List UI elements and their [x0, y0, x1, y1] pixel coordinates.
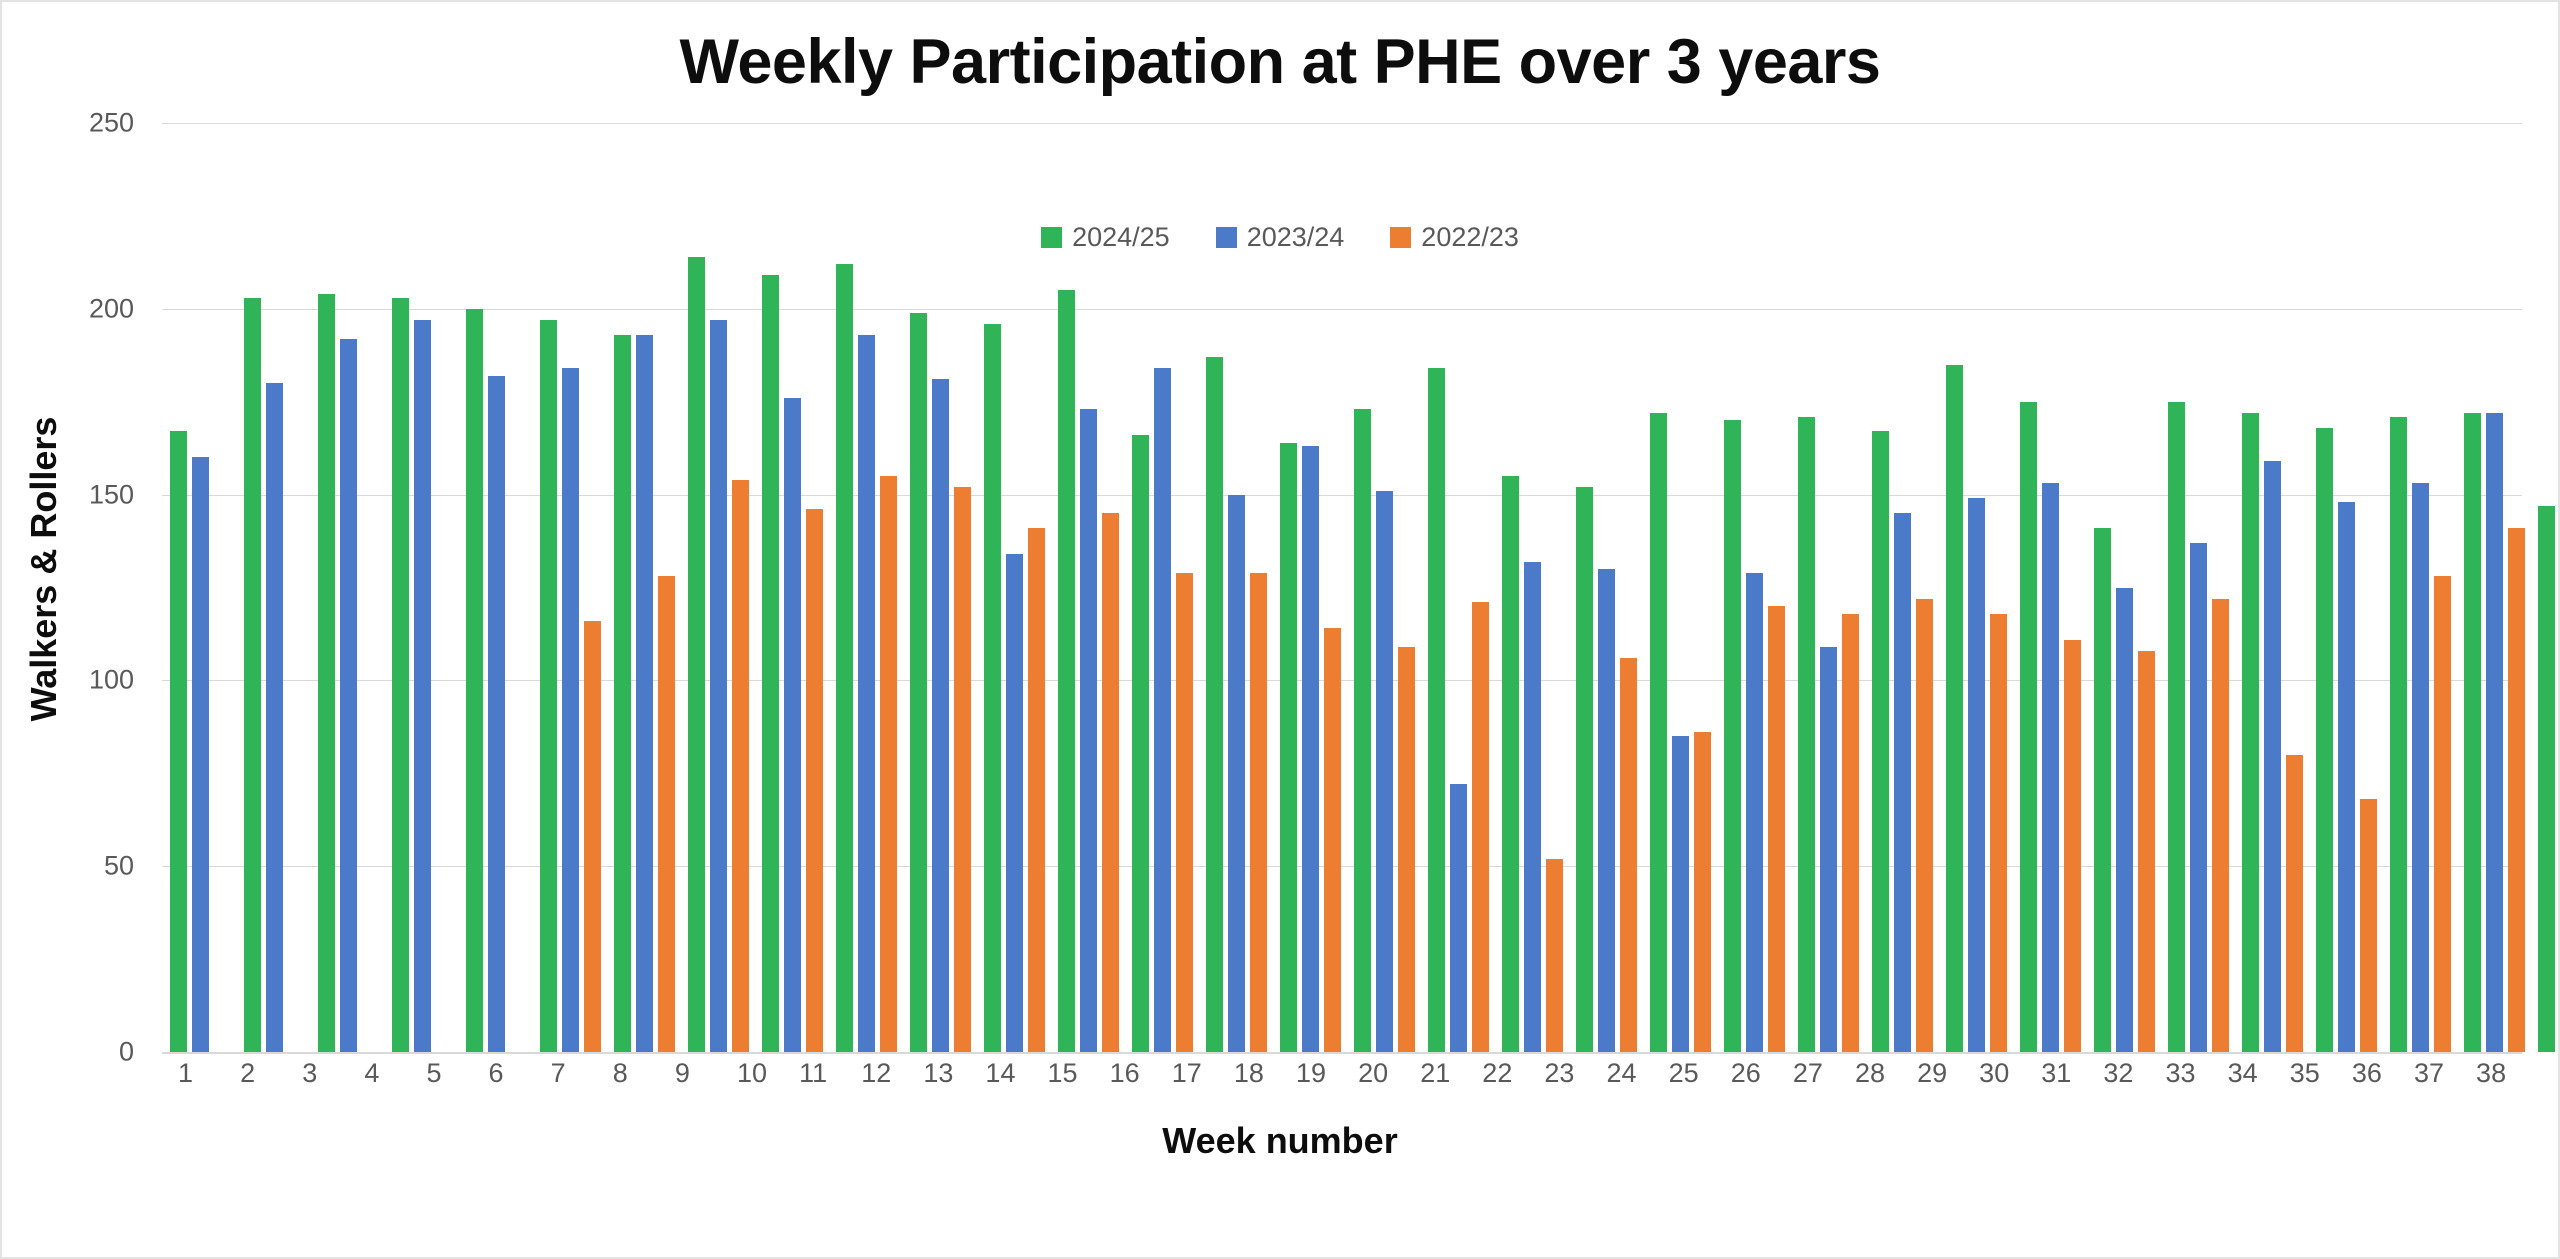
bar-2024-25-week-26[interactable] — [2020, 402, 2037, 1052]
bar-group — [236, 123, 310, 1052]
bar-2023-24-week-30[interactable] — [2338, 502, 2355, 1052]
x-axis-tick: 16 — [1094, 1058, 1156, 1089]
x-axis-tick: 22 — [1466, 1058, 1528, 1089]
bar-2024-25-week-21[interactable] — [1650, 413, 1667, 1052]
bar-2024-25-week-23[interactable] — [1798, 417, 1815, 1052]
bar-2022-23-week-8[interactable] — [732, 480, 749, 1052]
bar-2023-24-week-28[interactable] — [2190, 543, 2207, 1052]
bar-2022-23-week-16[interactable] — [1324, 628, 1341, 1052]
bar-group — [384, 123, 458, 1052]
gridline — [162, 1052, 2522, 1054]
x-axis-tick: 23 — [1528, 1058, 1590, 1089]
x-axis-tick: 34 — [2212, 1058, 2274, 1089]
bar-group — [1420, 123, 1494, 1052]
bar-2023-24-week-29[interactable] — [2264, 461, 2281, 1052]
bar-2023-24-week-24[interactable] — [1894, 513, 1911, 1052]
bar-2023-24-week-6[interactable] — [562, 368, 579, 1052]
bar-group — [1568, 123, 1642, 1052]
x-axis-tick: 33 — [2150, 1058, 2212, 1089]
y-axis-tick: 0 — [14, 1037, 134, 1068]
x-axis-tick: 19 — [1280, 1058, 1342, 1089]
bar-2023-24-week-17[interactable] — [1376, 491, 1393, 1052]
bar-2022-23-week-19[interactable] — [1546, 859, 1563, 1052]
plot-area: 050100150200250 — [162, 123, 2522, 1052]
bar-2024-25-week-16[interactable] — [1280, 443, 1297, 1052]
x-axis-tick: 18 — [1218, 1058, 1280, 1089]
bar-2023-24-week-21[interactable] — [1672, 736, 1689, 1052]
bar-2024-25-week-27[interactable] — [2094, 528, 2111, 1052]
y-axis-title: Walkers & Rollers — [23, 349, 65, 789]
chart-container: Weekly Participation at PHE over 3 years… — [0, 0, 2560, 1259]
x-axis-tick: 27 — [1777, 1058, 1839, 1089]
x-axis-tick: 8 — [597, 1058, 659, 1089]
bar-2024-25-week-7[interactable] — [614, 335, 631, 1052]
bar-2024-25-week-6[interactable] — [540, 320, 557, 1052]
bar-group — [1346, 123, 1420, 1052]
bar-group — [1494, 123, 1568, 1052]
bar-2022-23-week-11[interactable] — [954, 487, 971, 1052]
bar-2023-24-week-14[interactable] — [1154, 368, 1171, 1052]
bar-2023-24-week-18[interactable] — [1450, 784, 1467, 1052]
bar-2023-24-week-12[interactable] — [1006, 554, 1023, 1052]
bar-group — [1790, 123, 1864, 1052]
x-axis-tick: 3 — [286, 1058, 348, 1089]
x-axis-tick: 15 — [1032, 1058, 1094, 1089]
x-axis-tick-labels: 1234567891011121314151617181920212223242… — [162, 1058, 2522, 1089]
x-axis-tick: 2 — [224, 1058, 286, 1089]
bar-group — [606, 123, 680, 1052]
bar-2023-24-week-4[interactable] — [414, 320, 431, 1052]
bar-2022-23-week-32[interactable] — [2508, 528, 2525, 1052]
bar-2022-23-week-7[interactable] — [658, 576, 675, 1052]
bar-2022-23-week-6[interactable] — [584, 621, 601, 1052]
x-axis-tick: 35 — [2274, 1058, 2336, 1089]
bar-2022-23-week-23[interactable] — [1842, 614, 1859, 1052]
bar-group — [532, 123, 606, 1052]
bar-group — [2160, 123, 2234, 1052]
bar-2024-25-week-17[interactable] — [1354, 409, 1371, 1052]
bar-group — [754, 123, 828, 1052]
bar-2023-24-week-19[interactable] — [1524, 562, 1541, 1053]
bar-group — [2530, 123, 2560, 1052]
x-axis-tick: 30 — [1963, 1058, 2025, 1089]
x-axis-tick: 11 — [783, 1058, 845, 1089]
x-axis-tick: 26 — [1715, 1058, 1777, 1089]
bar-2022-23-week-10[interactable] — [880, 476, 897, 1052]
x-axis-tick: 21 — [1404, 1058, 1466, 1089]
bar-2023-24-week-22[interactable] — [1746, 573, 1763, 1052]
bar-2022-23-week-18[interactable] — [1472, 602, 1489, 1052]
bar-2022-23-week-28[interactable] — [2212, 599, 2229, 1052]
bar-2022-23-week-25[interactable] — [1990, 614, 2007, 1052]
bar-2023-24-week-8[interactable] — [710, 320, 727, 1052]
bar-2024-25-week-32[interactable] — [2464, 413, 2481, 1052]
bar-2024-25-week-9[interactable] — [762, 275, 779, 1052]
bar-group — [162, 123, 236, 1052]
bar-2023-24-week-7[interactable] — [636, 335, 653, 1052]
x-axis-tick: 24 — [1591, 1058, 1653, 1089]
bar-2024-25-week-30[interactable] — [2316, 428, 2333, 1052]
bar-group — [1716, 123, 1790, 1052]
bar-group — [1864, 123, 1938, 1052]
bar-group — [2456, 123, 2530, 1052]
bar-2023-24-week-13[interactable] — [1080, 409, 1097, 1052]
x-axis-tick: 7 — [535, 1058, 597, 1089]
bar-group — [680, 123, 754, 1052]
x-axis-tick: 31 — [2025, 1058, 2087, 1089]
bar-2024-25-week-22[interactable] — [1724, 420, 1741, 1052]
bar-2022-23-week-14[interactable] — [1176, 573, 1193, 1052]
bar-2023-24-week-27[interactable] — [2116, 588, 2133, 1053]
bar-2022-23-week-17[interactable] — [1398, 647, 1415, 1052]
x-axis-title: Week number — [2, 1120, 2558, 1162]
bar-2024-25-week-20[interactable] — [1576, 487, 1593, 1052]
x-axis-tick: 4 — [348, 1058, 410, 1089]
bar-group — [1124, 123, 1198, 1052]
bar-2024-25-week-8[interactable] — [688, 257, 705, 1052]
bar-2024-25-week-14[interactable] — [1132, 435, 1149, 1052]
bar-2022-23-week-9[interactable] — [806, 509, 823, 1052]
bar-2024-25-week-31[interactable] — [2390, 417, 2407, 1052]
bar-2024-25-week-15[interactable] — [1206, 357, 1223, 1052]
bar-2024-25-week-13[interactable] — [1058, 290, 1075, 1052]
y-axis-tick: 50 — [14, 851, 134, 882]
bar-2023-24-week-9[interactable] — [784, 398, 801, 1052]
bar-group — [2086, 123, 2160, 1052]
bar-2024-25-week-4[interactable] — [392, 298, 409, 1052]
bar-2024-25-week-24[interactable] — [1872, 431, 1889, 1052]
x-axis-tick: 9 — [659, 1058, 721, 1089]
bar-2023-24-week-16[interactable] — [1302, 446, 1319, 1052]
bar-groups — [162, 123, 2522, 1052]
x-axis-tick: 28 — [1839, 1058, 1901, 1089]
x-axis-tick: 25 — [1653, 1058, 1715, 1089]
y-axis-tick: 200 — [14, 293, 134, 324]
bar-2023-24-week-15[interactable] — [1228, 495, 1245, 1052]
bar-2023-24-week-3[interactable] — [340, 339, 357, 1052]
bar-group — [1198, 123, 1272, 1052]
bar-2023-24-week-20[interactable] — [1598, 569, 1615, 1052]
x-axis-tick: 36 — [2336, 1058, 2398, 1089]
bar-2022-23-week-21[interactable] — [1694, 732, 1711, 1052]
bar-2024-25-week-18[interactable] — [1428, 368, 1445, 1052]
x-axis-tick: 38 — [2460, 1058, 2522, 1089]
bar-2023-24-week-1[interactable] — [192, 457, 209, 1052]
bar-group — [310, 123, 384, 1052]
x-axis-tick: 1 — [162, 1058, 224, 1089]
bar-2024-25-week-28[interactable] — [2168, 402, 2185, 1052]
x-axis-tick: 12 — [845, 1058, 907, 1089]
bar-group — [2382, 123, 2456, 1052]
bar-2022-23-week-12[interactable] — [1028, 528, 1045, 1052]
bar-2024-25-week-29[interactable] — [2242, 413, 2259, 1052]
x-axis-tick: 5 — [410, 1058, 472, 1089]
x-axis-tick: 29 — [1901, 1058, 1963, 1089]
bar-group — [1642, 123, 1716, 1052]
x-axis-tick: 14 — [969, 1058, 1031, 1089]
x-axis-tick: 32 — [2087, 1058, 2149, 1089]
bar-2024-25-week-19[interactable] — [1502, 476, 1519, 1052]
bar-2023-24-week-26[interactable] — [2042, 483, 2059, 1052]
bar-2022-23-week-24[interactable] — [1916, 599, 1933, 1052]
bar-group — [1272, 123, 1346, 1052]
bar-2024-25-week-10[interactable] — [836, 264, 853, 1052]
chart-title: Weekly Participation at PHE over 3 years — [2, 26, 2558, 98]
bar-2022-23-week-31[interactable] — [2434, 576, 2451, 1052]
bar-2022-23-week-27[interactable] — [2138, 651, 2155, 1052]
bar-2024-25-week-25[interactable] — [1946, 365, 1963, 1052]
bar-group — [2308, 123, 2382, 1052]
bar-2023-24-week-5[interactable] — [488, 376, 505, 1052]
x-axis-tick: 17 — [1156, 1058, 1218, 1089]
bar-2022-23-week-20[interactable] — [1620, 658, 1637, 1052]
y-axis-tick: 150 — [14, 479, 134, 510]
x-axis-tick: 13 — [907, 1058, 969, 1089]
x-axis-tick: 20 — [1342, 1058, 1404, 1089]
bar-group — [902, 123, 976, 1052]
y-axis-tick: 250 — [14, 108, 134, 139]
bar-group — [2012, 123, 2086, 1052]
bar-2024-25-week-11[interactable] — [910, 313, 927, 1052]
bar-2023-24-week-10[interactable] — [858, 335, 875, 1052]
bar-group — [1938, 123, 2012, 1052]
bar-group — [828, 123, 902, 1052]
bar-group — [458, 123, 532, 1052]
x-axis-tick: 6 — [473, 1058, 535, 1089]
bar-2023-24-week-25[interactable] — [1968, 498, 1985, 1052]
bar-2024-25-week-1[interactable] — [170, 431, 187, 1052]
bar-2024-25-week-5[interactable] — [466, 309, 483, 1052]
bar-2023-24-week-32[interactable] — [2486, 413, 2503, 1052]
bar-2022-23-week-15[interactable] — [1250, 573, 1267, 1052]
bar-2022-23-week-26[interactable] — [2064, 640, 2081, 1052]
bar-2023-24-week-23[interactable] — [1820, 647, 1837, 1052]
x-axis-tick: 37 — [2398, 1058, 2460, 1089]
bar-2024-25-week-3[interactable] — [318, 294, 335, 1052]
y-axis-tick: 100 — [14, 665, 134, 696]
bar-group — [2234, 123, 2308, 1052]
bar-2024-25-week-33[interactable] — [2538, 506, 2555, 1052]
bar-2023-24-week-31[interactable] — [2412, 483, 2429, 1052]
bar-group — [1050, 123, 1124, 1052]
bar-group — [976, 123, 1050, 1052]
bar-2024-25-week-12[interactable] — [984, 324, 1001, 1052]
bar-2023-24-week-2[interactable] — [266, 383, 283, 1052]
bar-2022-23-week-22[interactable] — [1768, 606, 1785, 1052]
bar-2024-25-week-2[interactable] — [244, 298, 261, 1052]
bar-2022-23-week-13[interactable] — [1102, 513, 1119, 1052]
bar-2022-23-week-29[interactable] — [2286, 755, 2303, 1052]
x-axis-tick: 10 — [721, 1058, 783, 1089]
bar-2022-23-week-30[interactable] — [2360, 799, 2377, 1052]
bar-2023-24-week-11[interactable] — [932, 379, 949, 1052]
